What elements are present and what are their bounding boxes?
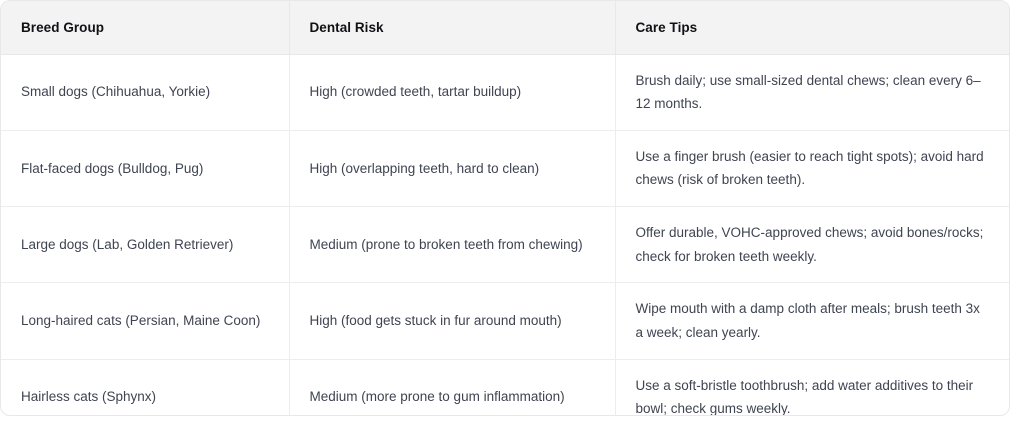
cell-breed-group: Flat-faced dogs (Bulldog, Pug) [1,130,289,206]
table-header-row: Breed Group Dental Risk Care Tips [1,1,1009,54]
table-row: Flat-faced dogs (Bulldog, Pug) High (ove… [1,130,1009,206]
dental-care-table: Breed Group Dental Risk Care Tips Small … [1,1,1009,416]
cell-dental-risk: High (food gets stuck in fur around mout… [289,283,615,359]
cell-care-tips: Use a finger brush (easier to reach tigh… [615,130,1009,206]
table-header: Breed Group Dental Risk Care Tips [1,1,1009,54]
table-row: Long-haired cats (Persian, Maine Coon) H… [1,283,1009,359]
cell-breed-group: Long-haired cats (Persian, Maine Coon) [1,283,289,359]
cell-dental-risk: High (overlapping teeth, hard to clean) [289,130,615,206]
cell-breed-group: Large dogs (Lab, Golden Retriever) [1,207,289,283]
cell-dental-risk: Medium (more prone to gum inflammation) [289,359,615,416]
column-header-care-tips: Care Tips [615,1,1009,54]
dental-care-table-container: Breed Group Dental Risk Care Tips Small … [0,0,1010,416]
cell-care-tips: Use a soft-bristle toothbrush; add water… [615,359,1009,416]
page-root: Breed Group Dental Risk Care Tips Small … [0,0,1024,425]
cell-dental-risk: Medium (prone to broken teeth from chewi… [289,207,615,283]
column-header-dental-risk: Dental Risk [289,1,615,54]
cell-dental-risk: High (crowded teeth, tartar buildup) [289,54,615,130]
table-row: Hairless cats (Sphynx) Medium (more pron… [1,359,1009,416]
cell-care-tips: Brush daily; use small-sized dental chew… [615,54,1009,130]
cell-breed-group: Hairless cats (Sphynx) [1,359,289,416]
cell-care-tips: Wipe mouth with a damp cloth after meals… [615,283,1009,359]
column-header-breed-group: Breed Group [1,1,289,54]
cell-care-tips: Offer durable, VOHC-approved chews; avoi… [615,207,1009,283]
cell-breed-group: Small dogs (Chihuahua, Yorkie) [1,54,289,130]
table-row: Large dogs (Lab, Golden Retriever) Mediu… [1,207,1009,283]
table-row: Small dogs (Chihuahua, Yorkie) High (cro… [1,54,1009,130]
table-body: Small dogs (Chihuahua, Yorkie) High (cro… [1,54,1009,416]
